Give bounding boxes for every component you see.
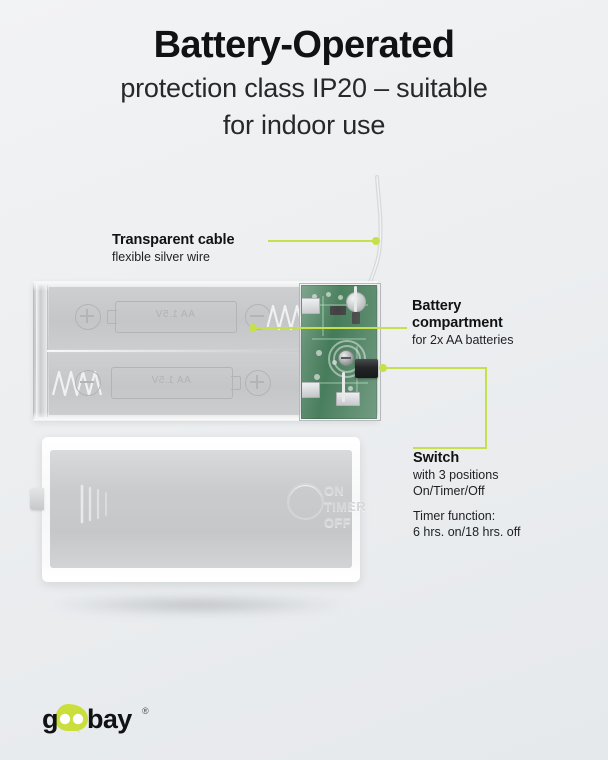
goobay-logo: g bay ® — [42, 702, 154, 732]
grip-ridges-icon — [78, 482, 114, 531]
pcb-solder-pad — [338, 295, 343, 300]
callout-spacer — [413, 499, 520, 508]
callout-title: Transparent cable — [112, 232, 234, 249]
svg-text:g: g — [42, 704, 58, 734]
pcb-solder-pad — [348, 386, 353, 391]
callout-title-line-1: Battery — [412, 298, 513, 315]
housing-side-tab — [30, 488, 44, 510]
pcb-trace — [322, 296, 324, 336]
polarity-minus-icon — [75, 370, 101, 396]
switch-label-on: ON — [324, 483, 366, 499]
pcb-solder-pad — [326, 292, 331, 297]
switch-position-labels: ON TIMER OFF — [324, 483, 366, 531]
battery-contact — [301, 382, 320, 398]
leader-line-battery — [252, 327, 407, 329]
svg-text:bay: bay — [87, 704, 132, 734]
svg-text:®: ® — [142, 706, 149, 716]
switch-slider-tab[interactable] — [355, 359, 378, 378]
pcb-chip — [352, 312, 360, 324]
infographic-canvas: Battery-Operated protection class IP20 –… — [0, 0, 608, 760]
callout-switch: Switch with 3 positions On/Timer/Off Tim… — [413, 450, 520, 540]
circuit-board — [301, 285, 377, 419]
product-drop-shadow — [48, 596, 348, 614]
callout-subtitle-line-4: 6 hrs. on/18 hrs. off — [413, 524, 520, 540]
battery-size-label-bottom: AA 1.5V — [111, 375, 231, 386]
callout-subtitle-line-2: On/Timer/Off — [413, 483, 520, 499]
pcb-solder-pad — [314, 374, 320, 380]
switch-label-off: OFF — [324, 515, 366, 531]
battery-contact — [301, 298, 320, 314]
battery-terminal-nub — [231, 376, 241, 390]
pcb-solder-pad — [316, 350, 322, 356]
callout-subtitle: flexible silver wire — [112, 249, 234, 265]
battery-size-label-top: AA 1.5V — [115, 309, 235, 320]
transparent-battery-holder: AA 1.5V AA 1.5V — [33, 281, 378, 421]
internal-wire — [354, 286, 357, 312]
slot-divider — [47, 350, 300, 352]
housing-top-highlight — [42, 437, 360, 450]
callout-title-line-2: compartment — [412, 315, 513, 332]
switch-label-timer: TIMER — [324, 499, 366, 515]
leader-line-switch-horizontal — [383, 367, 487, 369]
callout-subtitle: for 2x AA batteries — [412, 332, 513, 348]
callout-transparent-cable: Transparent cable flexible silver wire — [112, 232, 234, 265]
callout-title: Switch — [413, 450, 520, 467]
subtitle-line-1: protection class IP20 – suitable — [0, 72, 608, 105]
battery-contact — [336, 392, 360, 406]
pcb-chip — [330, 306, 346, 315]
page-title: Battery-Operated — [0, 22, 608, 68]
headline-block: Battery-Operated protection class IP20 –… — [0, 22, 608, 142]
leader-line-cable — [268, 240, 378, 242]
pcb-trace — [312, 338, 366, 340]
subtitle-line-2: for indoor use — [0, 109, 608, 142]
pcb-screw — [338, 350, 354, 366]
leader-dot-battery — [249, 324, 257, 332]
leader-dot-switch — [379, 364, 387, 372]
leader-dot-cable — [372, 237, 380, 245]
switch-dial[interactable] — [287, 483, 324, 520]
internal-wire — [342, 372, 345, 402]
leader-line-switch-foot — [413, 447, 487, 449]
leader-line-switch-vertical — [485, 367, 487, 449]
battery-slot-bottom: AA 1.5V — [49, 353, 299, 415]
callout-subtitle-line-1: with 3 positions — [413, 467, 520, 483]
polarity-plus-icon — [75, 304, 101, 330]
battery-slot-top: AA 1.5V — [49, 287, 299, 349]
callout-battery-compartment: Battery compartment for 2x AA batteries — [412, 298, 513, 348]
housing-bottom-highlight — [42, 568, 360, 582]
polarity-plus-icon — [245, 370, 271, 396]
callout-subtitle-line-3: Timer function: — [413, 508, 520, 524]
